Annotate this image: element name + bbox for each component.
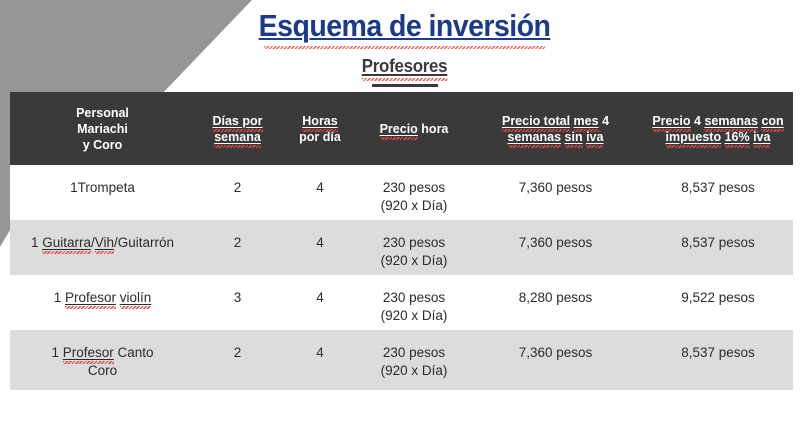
table-row: 1 Profesor violín 3 4 230 pesos (920 x D… (10, 275, 793, 330)
column-header-horas-por-dia: Horas por día (280, 113, 360, 145)
header-personal-line3: y Coro (10, 137, 195, 153)
cell-personal-part1: 1 (51, 345, 62, 360)
header-iva-word6: 16% (725, 129, 750, 145)
cell-personal: 1 Profesor violín (10, 289, 195, 307)
cell-total-mes: 7,360 pesos (468, 234, 643, 252)
cell-personal-part3: Canto (114, 345, 154, 360)
column-header-dias-por-semana: Días por semana (195, 113, 280, 145)
cell-precio-hora-detail: (920 x Día) (360, 197, 468, 215)
investment-table: Personal Mariachi y Coro Días por semana… (10, 92, 793, 390)
cell-total-con-iva: 9,522 pesos (643, 289, 793, 307)
header-iva-word7: iva (753, 129, 770, 145)
cell-precio-hora: 230 pesos (920 x Día) (360, 344, 468, 379)
column-header-precio-con-impuesto: Precio 4 semanas con impuesto 16% iva (643, 113, 793, 145)
header-iva-word5: impuesto (666, 129, 722, 145)
table-row: 1Trompeta 2 4 230 pesos (920 x Día) 7,36… (10, 165, 793, 220)
subtitle-block: Profesores (0, 56, 810, 87)
header-total-word2: mes (574, 113, 599, 129)
cell-personal-line2: Coro (10, 362, 195, 380)
cell-dias: 2 (195, 234, 280, 252)
cell-personal-part1: 1 (31, 235, 42, 250)
header-personal-line1: Personal (10, 105, 195, 121)
header-horas-line2: por día (299, 130, 341, 144)
cell-total-con-iva: 8,537 pesos (643, 234, 793, 252)
cell-total-con-iva: 8,537 pesos (643, 344, 793, 362)
header-total-word4: semanas (508, 129, 562, 145)
header-precio-word1: Precio (380, 121, 418, 137)
cell-precio-hora-amount: 230 pesos (360, 179, 468, 197)
cell-dias: 3 (195, 289, 280, 307)
column-header-precio-total-mes: Precio total mes 4 semanas sin iva (468, 113, 643, 145)
cell-horas: 4 (280, 289, 360, 307)
header-total-word3: 4 (602, 114, 609, 128)
cell-precio-hora-amount: 230 pesos (360, 289, 468, 307)
header-total-word5: sin (565, 129, 583, 145)
table-row: 1 Profesor Canto Coro 2 4 230 pesos (920… (10, 330, 793, 390)
cell-personal-part2: Profesor (65, 289, 116, 307)
cell-personal-part5: /Guitarrón (114, 235, 174, 250)
cell-precio-hora: 230 pesos (920 x Día) (360, 234, 468, 269)
cell-precio-hora-detail: (920 x Día) (360, 362, 468, 380)
cell-personal-part2: Guitarra (42, 234, 91, 252)
cell-personal: 1 Guitarra/Vih/Guitarrón (10, 234, 195, 252)
slide-canvas: Esquema de inversión Profesores Personal… (0, 0, 810, 425)
cell-horas: 4 (280, 344, 360, 362)
header-personal-line2: Mariachi (10, 121, 195, 137)
cell-dias: 2 (195, 179, 280, 197)
cell-precio-hora: 230 pesos (920 x Día) (360, 179, 468, 214)
cell-personal-part4: violín (120, 289, 152, 307)
cell-personal-part1: 1 (54, 290, 65, 305)
header-horas-line1: Horas (302, 113, 337, 129)
cell-personal-part2: Profesor (63, 344, 114, 362)
header-dias-line1: Días por (212, 113, 262, 129)
cell-precio-hora-detail: (920 x Día) (360, 252, 468, 270)
cell-horas: 4 (280, 179, 360, 197)
cell-personal-part4: Vih (95, 234, 114, 252)
cell-total-mes: 7,360 pesos (468, 344, 643, 362)
page-title: Esquema de inversión (259, 8, 551, 44)
cell-dias: 2 (195, 344, 280, 362)
cell-precio-hora-amount: 230 pesos (360, 344, 468, 362)
page-subtitle: Profesores (362, 56, 448, 77)
table-header-row: Personal Mariachi y Coro Días por semana… (10, 92, 793, 165)
header-iva-word3: semanas (704, 113, 758, 129)
cell-total-con-iva: 8,537 pesos (643, 179, 793, 197)
column-header-precio-hora: Precio hora (360, 121, 468, 137)
cell-total-mes: 7,360 pesos (468, 179, 643, 197)
subtitle-rule (372, 84, 438, 87)
cell-precio-hora-detail: (920 x Día) (360, 307, 468, 325)
header-dias-line2: semana (214, 129, 261, 145)
cell-precio-hora-amount: 230 pesos (360, 234, 468, 252)
cell-total-mes: 8,280 pesos (468, 289, 643, 307)
title-block: Esquema de inversión Profesores (0, 8, 810, 87)
header-iva-word1: Precio (652, 113, 690, 129)
header-precio-word2: hora (421, 122, 448, 136)
cell-horas: 4 (280, 234, 360, 252)
header-iva-word2: 4 (694, 114, 701, 128)
header-iva-word4: con (761, 113, 783, 129)
column-header-personal: Personal Mariachi y Coro (10, 105, 195, 153)
header-total-word1: Precio total (502, 113, 570, 129)
cell-personal: 1 Profesor Canto Coro (10, 344, 195, 379)
header-total-word6: iva (586, 129, 603, 145)
cell-personal: 1Trompeta (10, 179, 195, 197)
table-row: 1 Guitarra/Vih/Guitarrón 2 4 230 pesos (… (10, 220, 793, 275)
cell-precio-hora: 230 pesos (920 x Día) (360, 289, 468, 324)
